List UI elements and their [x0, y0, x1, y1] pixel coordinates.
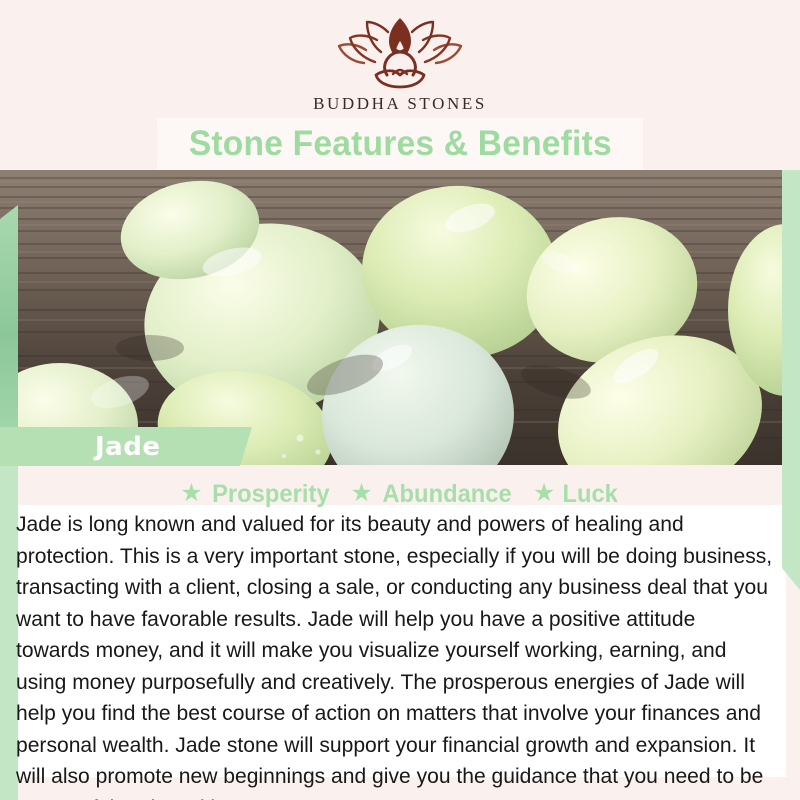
benefit-label: Abundance	[382, 480, 511, 509]
stone-name-label: Jade	[95, 432, 160, 462]
stone-name-banner: Jade	[0, 427, 252, 466]
star-icon: ★	[180, 481, 202, 506]
benefit-label: Luck	[563, 480, 618, 509]
infographic-card: BUDDHA STONES	[0, 0, 800, 800]
star-icon: ★	[350, 481, 372, 506]
lotus-meditation-figure-icon	[330, 16, 470, 90]
page-title: Stone Features & Benefits	[188, 124, 611, 164]
accent-bar-right	[782, 170, 800, 590]
accent-bar-left-top	[0, 205, 18, 440]
benefit-item-abundance: ★ Abundance	[350, 480, 515, 509]
star-icon: ★	[533, 481, 555, 506]
stone-photo	[0, 170, 800, 465]
brand-logo: BUDDHA STONES	[0, 16, 800, 121]
benefit-item-luck: ★ Luck	[533, 480, 620, 509]
section-title-banner: Stone Features & Benefits	[157, 118, 643, 170]
benefits-list: ★ Prosperity ★ Abundance ★ Luck	[0, 478, 800, 510]
benefit-label: Prosperity	[212, 480, 329, 509]
brand-name: BUDDHA STONES	[313, 94, 487, 114]
description-text: Jade is long known and valued for its be…	[16, 509, 773, 800]
benefit-item-prosperity: ★ Prosperity	[180, 480, 332, 509]
